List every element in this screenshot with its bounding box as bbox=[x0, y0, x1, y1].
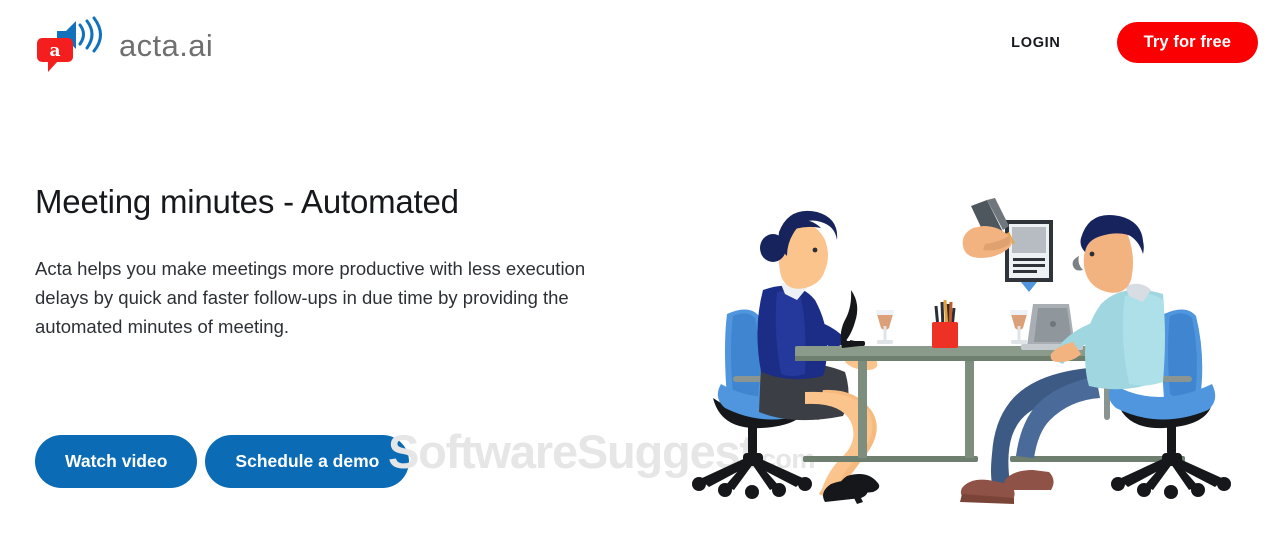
schedule-demo-button[interactable]: Schedule a demo bbox=[205, 435, 409, 488]
login-link[interactable]: LOGIN bbox=[1011, 35, 1060, 51]
watch-video-button[interactable]: Watch video bbox=[35, 435, 197, 488]
glass-right-icon bbox=[1010, 310, 1028, 344]
brand-wordmark: acta.ai bbox=[119, 30, 213, 61]
pencil-cup-icon bbox=[932, 300, 958, 348]
site-header: a acta.ai LOGIN Try for free bbox=[0, 0, 1273, 88]
hand-signing-document-icon bbox=[963, 198, 1053, 292]
hero-subtitle: Acta helps you make meetings more produc… bbox=[35, 254, 635, 341]
glass-left-icon bbox=[876, 310, 894, 344]
landing-page: a acta.ai LOGIN Try for free Meeting min… bbox=[0, 0, 1273, 543]
page-title: Meeting minutes - Automated bbox=[35, 182, 655, 222]
try-for-free-button[interactable]: Try for free bbox=[1117, 22, 1258, 63]
header-actions: LOGIN Try for free bbox=[1011, 22, 1258, 63]
two-people-meeting-at-desk-illustration bbox=[655, 198, 1270, 518]
speaker-speech-bubble-logo-icon: a bbox=[35, 16, 109, 72]
monitor-icon bbox=[841, 290, 865, 348]
svg-text:a: a bbox=[49, 41, 60, 61]
hero-action-buttons: Watch video Schedule a demo bbox=[35, 435, 409, 488]
hero-copy: Meeting minutes - Automated Acta helps y… bbox=[35, 182, 655, 341]
brand-logo[interactable]: a acta.ai bbox=[35, 16, 213, 72]
